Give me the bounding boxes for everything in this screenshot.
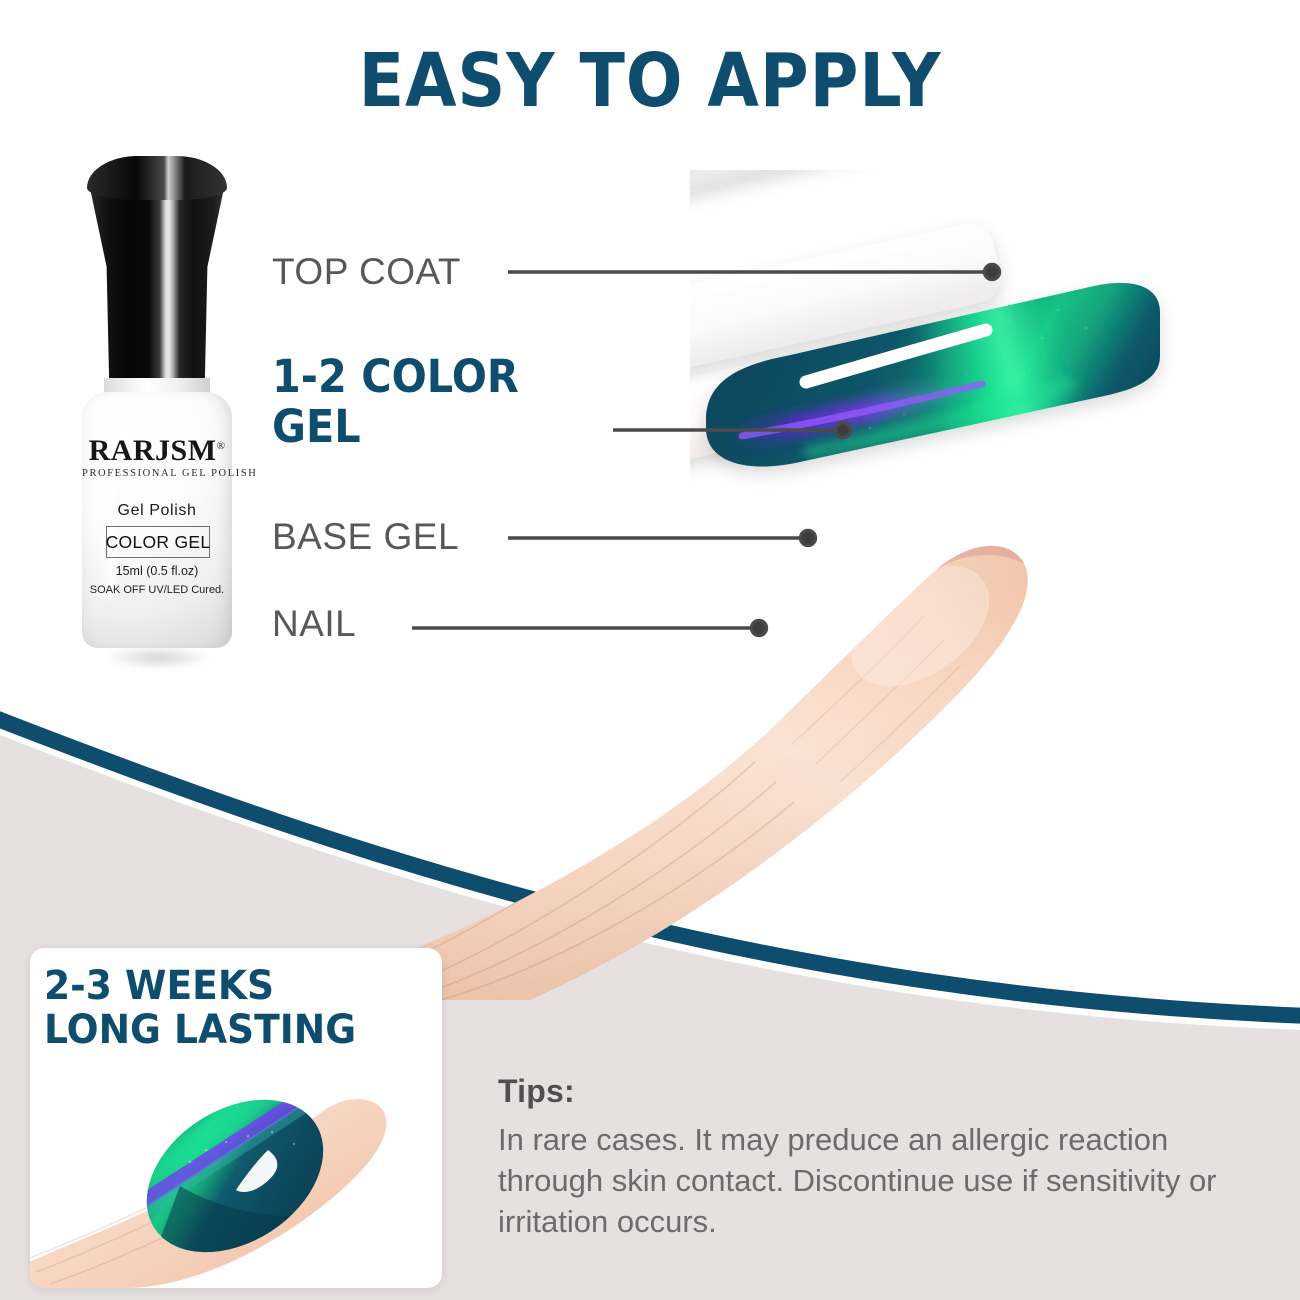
leader-dot-nail: [752, 621, 767, 636]
card-title-line2: LONG LASTING: [44, 1008, 411, 1052]
infographic-root: EASY TO APPLY RARJSM® PROFESSIONAL GEL P…: [0, 0, 1300, 1300]
tips-heading: Tips:: [498, 1073, 575, 1110]
tips-body: In rare cases. It may preduce an allergi…: [498, 1119, 1268, 1242]
card-nail-photo: [30, 1066, 442, 1288]
card-title-line1: 2-3 WEEKS: [44, 964, 411, 1008]
leader-dot-base-gel: [801, 531, 816, 546]
card-title: 2-3 WEEKS LONG LASTING: [44, 964, 411, 1052]
long-lasting-card: 2-3 WEEKS LONG LASTING: [30, 948, 442, 1288]
leader-dot-top-coat: [985, 265, 1000, 280]
leader-dot-color-gel: [836, 423, 851, 438]
